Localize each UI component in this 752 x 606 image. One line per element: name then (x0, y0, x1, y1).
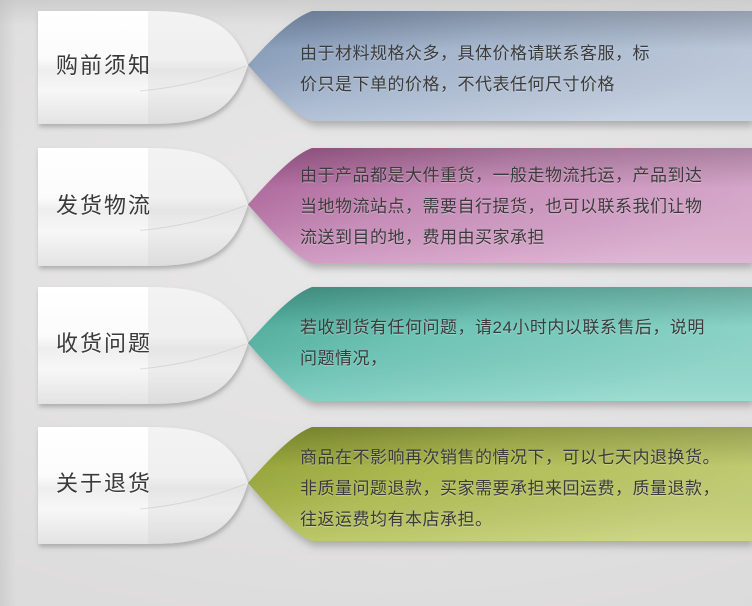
row-body-receiving-issues: 若收到货有任何问题，请24小时内以联系售后，说明 问题情况， (300, 312, 740, 374)
row-label-receiving-issues: 收货问题 (56, 326, 152, 358)
info-row-receiving-issues[interactable]: 收货问题若收到货有任何问题，请24小时内以联系售后，说明 问题情况， (0, 281, 752, 405)
row-body-shipping-logistics: 由于产品都是大件重货，一般走物流托运，产品到达 当地物流站点，需要自行提货，也可… (300, 160, 740, 253)
info-row-pre-purchase[interactable]: 购前须知由于材料规格众多，具体价格请联系客服，标 价只是下单的价格，不代表任何尺… (0, 5, 752, 125)
row-label-return-policy: 关于退货 (56, 466, 152, 498)
info-ribbon-list: 购前须知由于材料规格众多，具体价格请联系客服，标 价只是下单的价格，不代表任何尺… (0, 0, 752, 606)
row-label-shipping-logistics: 发货物流 (56, 188, 152, 220)
info-row-return-policy[interactable]: 关于退货商品在不影响再次销售的情况下，可以七天内退换货。 非质量问题退款，买家需… (0, 421, 752, 545)
row-body-pre-purchase: 由于材料规格众多，具体价格请联系客服，标 价只是下单的价格，不代表任何尺寸价格 (300, 38, 740, 100)
row-body-return-policy: 商品在不影响再次销售的情况下，可以七天内退换货。 非质量问题退款，买家需要承担来… (300, 442, 740, 535)
info-row-shipping-logistics[interactable]: 发货物流由于产品都是大件重货，一般走物流托运，产品到达 当地物流站点，需要自行提… (0, 142, 752, 267)
row-label-pre-purchase: 购前须知 (56, 48, 152, 80)
